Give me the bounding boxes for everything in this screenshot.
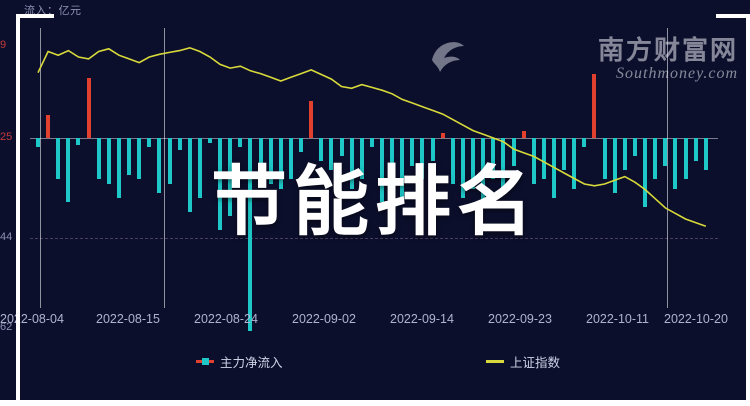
bar-marker-dot-icon	[202, 358, 209, 365]
x-axis-tick-label: 2022-08-04	[0, 312, 64, 326]
x-axis-tick-label: 2022-09-23	[488, 312, 552, 326]
x-axis-tick-label: 2022-09-14	[390, 312, 454, 326]
x-axis-tick-label: 2022-10-20	[664, 312, 728, 326]
swallow-logo-icon	[426, 34, 470, 78]
x-axis-tick-label: 2022-10-11	[586, 312, 649, 326]
x-axis-ticks: 2022-08-042022-08-152022-08-242022-09-02…	[0, 312, 750, 330]
y-axis-unit-label: 流入：亿元	[24, 2, 82, 18]
chart-panel: 流入：亿元 9254462 2022-08-042022-08-152022-0…	[0, 0, 750, 400]
legend-label: 主力净流入	[220, 352, 283, 371]
bar-marker-icon	[196, 360, 214, 363]
watermark-en: Southmoney.com	[478, 65, 738, 83]
chart-screenshot: 流入：亿元 9254462 2022-08-042022-08-152022-0…	[0, 0, 750, 400]
watermark: 南方财富网 Southmoney.com	[478, 30, 738, 83]
legend-label: 上证指数	[510, 352, 560, 371]
line-marker-icon	[486, 360, 504, 363]
overlay-title: 节能排名	[0, 140, 750, 250]
x-axis-tick-label: 2022-09-02	[292, 312, 356, 326]
y-axis-tick: 9	[0, 39, 6, 51]
legend-item[interactable]: 主力净流入	[196, 352, 283, 371]
watermark-cn: 南方财富网	[478, 30, 738, 67]
chart-legend: 主力净流入上证指数	[0, 352, 750, 372]
legend-item[interactable]: 上证指数	[486, 352, 560, 371]
x-axis-tick-label: 2022-08-15	[96, 312, 160, 326]
x-axis-tick-label: 2022-08-24	[194, 312, 258, 326]
